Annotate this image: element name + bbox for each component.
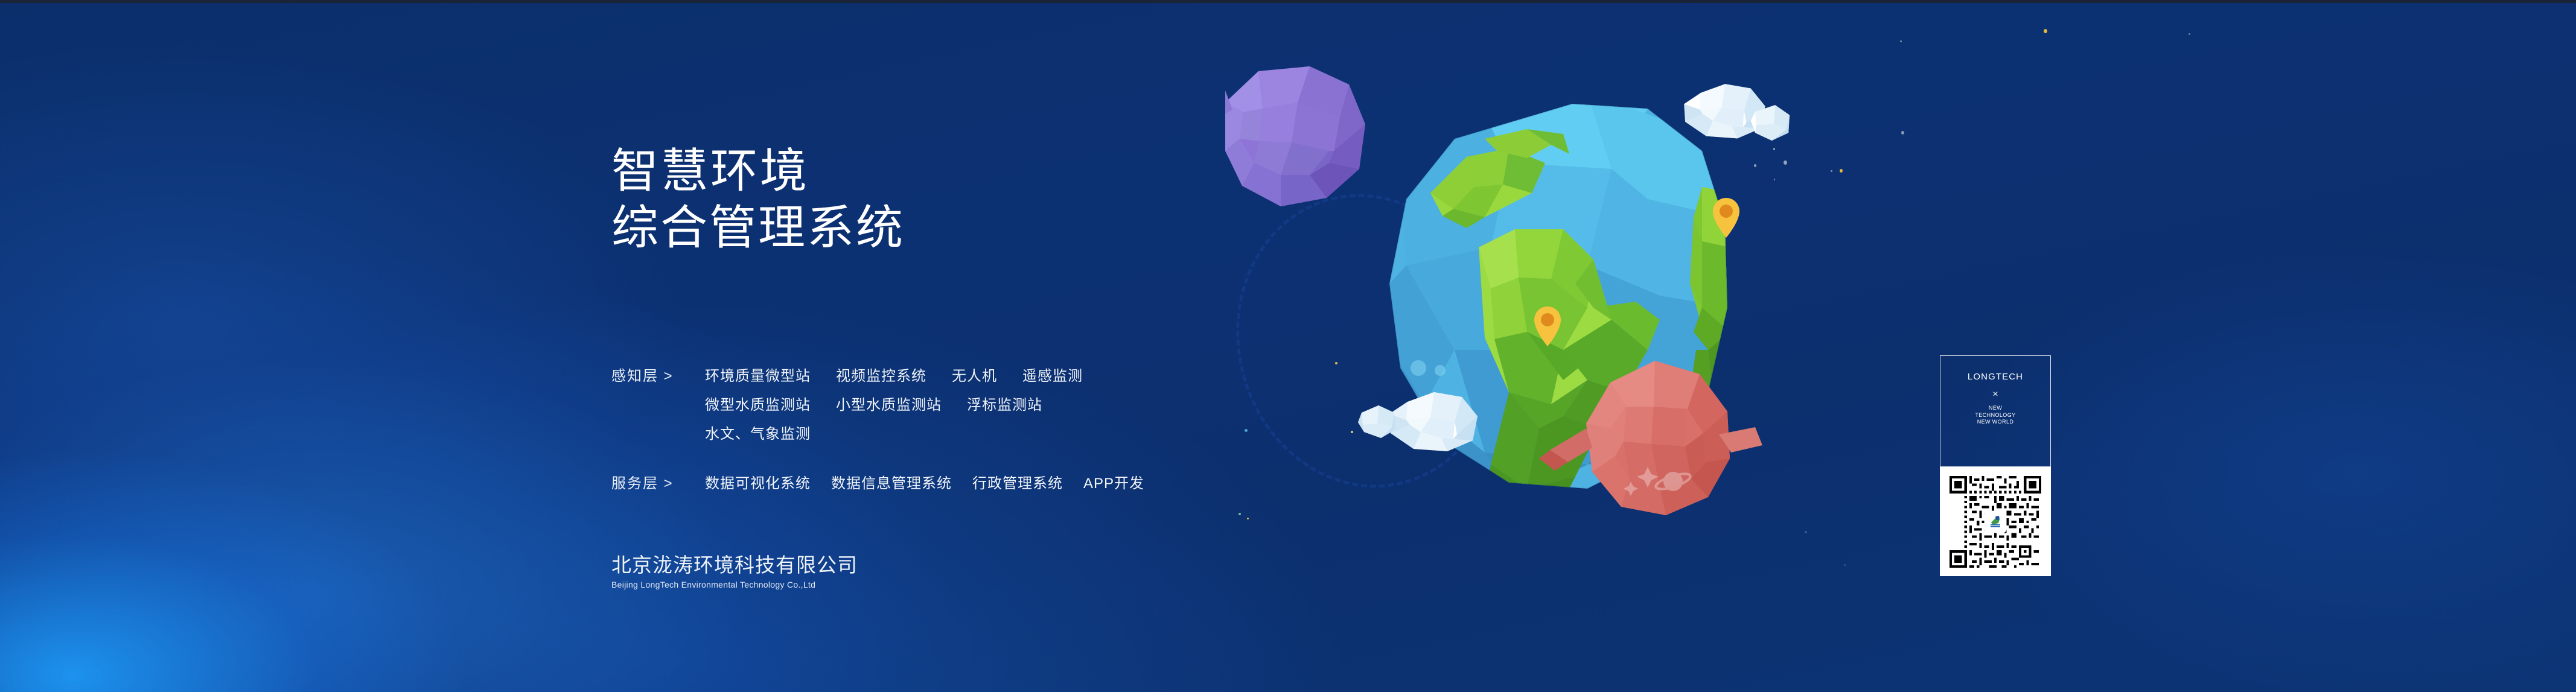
sense-item[interactable]: 浮标监测站 — [967, 391, 1042, 420]
top-strip — [0, 0, 2576, 3]
headline-line-1: 智慧环境 — [611, 142, 905, 199]
service-item[interactable]: 行政管理系统 — [972, 469, 1063, 498]
service-layer-label: 服务层 > — [611, 469, 705, 498]
star-dot — [2189, 33, 2190, 35]
sense-layer-row: 感知层 > 环境质量微型站 视频监控系统 无人机 遥感监测 微型水质监测站 小型… — [611, 362, 1083, 449]
sense-item[interactable]: 环境质量微型站 — [705, 362, 811, 391]
sense-layer-line: 微型水质监测站 小型水质监测站 浮标监测站 — [705, 391, 1083, 420]
tagline-line-3: NEW WORLD — [1975, 419, 2015, 426]
cloud-shape — [1684, 84, 1790, 141]
service-layer-line: 数据可视化系统 数据信息管理系统 行政管理系统 APP开发 — [705, 469, 1165, 498]
x-symbol-icon: × — [1992, 389, 1998, 400]
qr-code-image[interactable] — [1950, 476, 2041, 568]
company-name-cn: 北京泷涛环境科技有限公司 — [611, 553, 858, 577]
service-layer-items: 数据可视化系统 数据信息管理系统 行政管理系统 APP开发 — [705, 469, 1165, 498]
hero-banner: 智慧环境 综合管理系统 感知层 > 环境质量微型站 视频监控系统 无人机 遥感监… — [0, 0, 2576, 692]
sense-layer-label: 感知层 > — [611, 362, 705, 391]
service-item[interactable]: 数据可视化系统 — [705, 469, 811, 498]
sense-layer-line: 环境质量微型站 视频监控系统 无人机 遥感监测 — [705, 362, 1083, 391]
service-item[interactable]: 数据信息管理系统 — [831, 469, 952, 498]
qr-card-header: LONGTECH × NEW TECHNOLOGY NEW WORLD — [1940, 355, 2051, 467]
space-illustration — [1225, 66, 1925, 597]
service-layer-row: 服务层 > 数据可视化系统 数据信息管理系统 行政管理系统 APP开发 — [611, 469, 1165, 498]
company-signature: 北京泷涛环境科技有限公司 Beijing LongTech Environmen… — [611, 553, 858, 591]
sense-item[interactable]: 视频监控系统 — [836, 362, 926, 391]
sense-layer-line: 水文、气象监测 — [705, 420, 1083, 449]
cloud-shape — [1358, 392, 1478, 451]
qr-code-container[interactable] — [1940, 467, 2051, 576]
sense-item[interactable]: 无人机 — [952, 362, 997, 391]
tagline-line-2: TECHNOLOGY — [1975, 412, 2015, 419]
longtech-logo-icon — [1985, 512, 2006, 532]
purple-planet-shape — [1225, 66, 1365, 206]
sense-item[interactable]: 水文、气象监测 — [705, 420, 811, 449]
headline-line-2: 综合管理系统 — [611, 199, 905, 256]
tagline: NEW TECHNOLOGY NEW WORLD — [1975, 405, 2015, 426]
sense-item[interactable]: 微型水质监测站 — [705, 391, 811, 420]
brand-name: LONGTECH — [1968, 372, 2023, 383]
star-dot — [1900, 40, 1902, 42]
qr-card[interactable]: LONGTECH × NEW TECHNOLOGY NEW WORLD — [1940, 355, 2051, 576]
star-dot — [2044, 29, 2047, 33]
tagline-line-1: NEW — [1975, 405, 2015, 412]
company-name-en: Beijing LongTech Environmental Technolog… — [611, 579, 858, 591]
sense-item[interactable]: 遥感监测 — [1022, 362, 1083, 391]
sense-item[interactable]: 小型水质监测站 — [836, 391, 942, 420]
service-item[interactable]: APP开发 — [1083, 469, 1144, 498]
page-title: 智慧环境 综合管理系统 — [611, 142, 905, 256]
sense-layer-items: 环境质量微型站 视频监控系统 无人机 遥感监测 微型水质监测站 小型水质监测站 … — [705, 362, 1083, 449]
